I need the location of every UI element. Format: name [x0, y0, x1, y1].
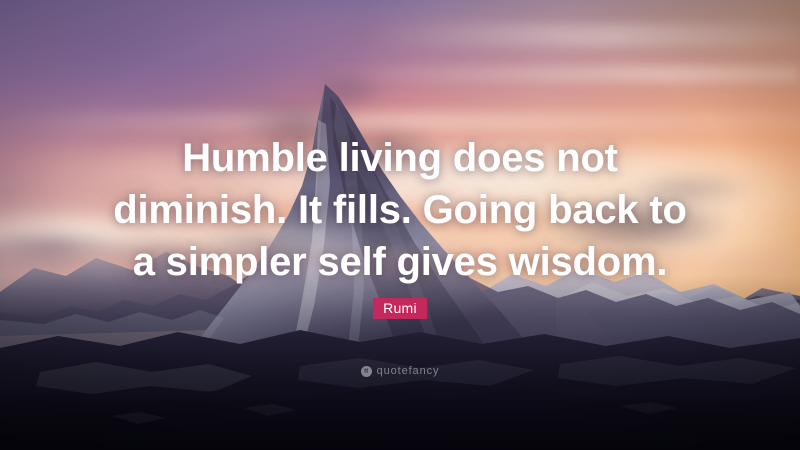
quote-line-2: diminish. It fills. Going back to — [0, 184, 800, 236]
author-badge[interactable]: Rumi — [373, 298, 427, 319]
author-badge-wrap: Rumi — [0, 298, 800, 319]
quote-line-3: a simpler self gives wisdom. — [0, 236, 800, 288]
quote-text: Humble living does not diminish. It fill… — [0, 132, 800, 288]
cloud-wisp-peak-upper — [288, 58, 408, 116]
quotefancy-logo-icon: ff — [361, 366, 372, 377]
watermark: ff quotefancy — [0, 366, 800, 377]
quote-poster: Humble living does not diminish. It fill… — [0, 0, 800, 450]
quote-line-1: Humble living does not — [0, 132, 800, 184]
watermark-label: quotefancy — [377, 366, 440, 377]
